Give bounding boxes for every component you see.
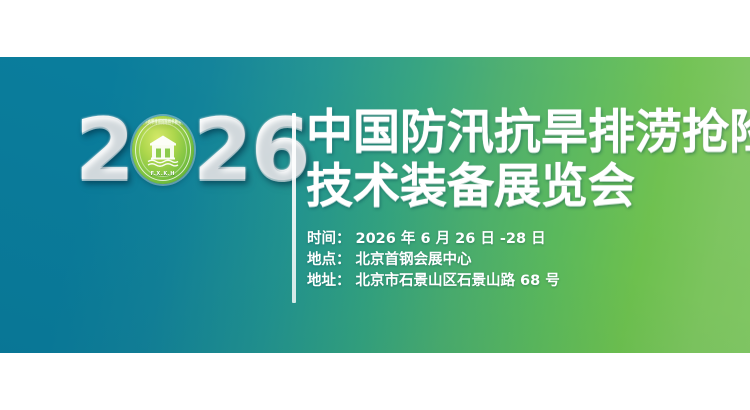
year-digit-3: 2 [193,107,251,193]
year-digits: 2 中国防汛抗旱排涝抢险技术装备展览会 F.X.K.H 2 6 [75,107,309,193]
detail-row-date: 时间：2026 年 6 月 26 日 -28 日 [307,229,750,250]
detail-value-venue: 北京首钢会展中心 [356,250,472,271]
year-digit-1: 2 [75,107,133,193]
detail-row-venue: 地点：北京首钢会展中心 [307,250,750,271]
emblem-arc-text: 中国防汛抗旱排涝抢险技术装备展览会 [132,120,194,123]
detail-label-date: 时间： [307,229,351,250]
detail-label-address: 地址： [307,271,351,292]
emblem-gate-and-water-icon [141,133,185,171]
exhibition-title-line-1: 中国防汛抗旱排涝抢险 [306,105,750,161]
detail-row-address: 地址：北京市石景山区石景山路 68 号 [307,271,750,292]
detail-value-address: 北京市石景山区石景山路 68 号 [356,271,560,292]
flood-control-emblem-icon: 中国防汛抗旱排涝抢险技术装备展览会 F.X.K.H [132,116,194,184]
year-digit-4: 6 [251,107,309,193]
event-details: 时间：2026 年 6 月 26 日 -28 日 地点：北京首钢会展中心 地址：… [307,229,750,292]
detail-value-date: 2026 年 6 月 26 日 -28 日 [356,229,546,250]
emblem-abbreviation: F.X.K.H [132,172,194,177]
year-lockup: 2 中国防汛抗旱排涝抢险技术装备展览会 F.X.K.H 2 6 [75,100,290,200]
exhibition-title-line-2: 技术装备展览会 [306,159,750,215]
headline-column: 中国防汛抗旱排涝抢险 技术装备展览会 时间：2026 年 6 月 26 日 -2… [304,105,750,292]
exhibition-banner-poster: 2 中国防汛抗旱排涝抢险技术装备展览会 F.X.K.H 2 6 [0,0,750,410]
vertical-divider [292,113,296,303]
detail-label-venue: 地点： [307,250,351,271]
